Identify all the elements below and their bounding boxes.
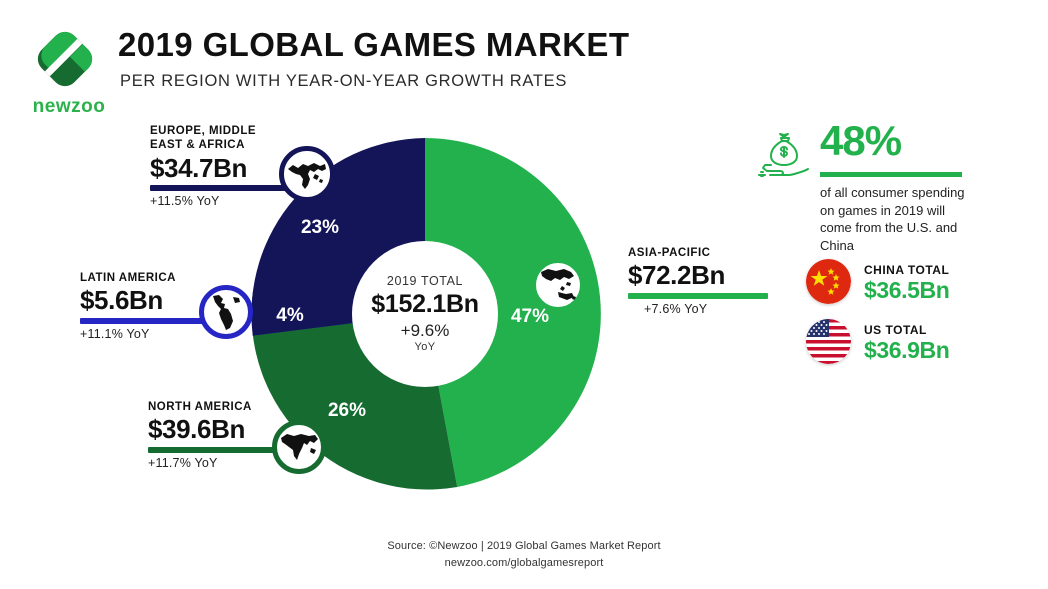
newzoo-logo-icon: [30, 24, 100, 94]
footer-url[interactable]: newzoo.com/globalgamesreport: [0, 557, 1048, 569]
stat-percent: 48%: [820, 120, 901, 162]
newzoo-wordmark: newzoo: [26, 96, 112, 118]
footer-source: Source: ©Newzoo | 2019 Global Games Mark…: [0, 540, 1048, 552]
donut-center-total: 2019 TOTAL $152.1Bn +9.6% YoY: [352, 241, 498, 387]
flag-value-china: $36.5Bn: [864, 277, 949, 304]
us-flag-icon: [806, 319, 851, 364]
stat-description: of all consumer spending on games in 201…: [820, 184, 970, 254]
callout-latin-america-region: LATIN AMERICA: [80, 271, 250, 285]
europe-middle-east-africa-map-icon: [279, 146, 335, 202]
header: newzoo 2019 GLOBAL GAMES MARKET PER REGI…: [18, 22, 658, 114]
donut-label-latin-america: 4%: [276, 305, 304, 326]
center-growth-unit: YoY: [415, 342, 436, 353]
china-flag-icon: [806, 259, 851, 304]
page-title: 2019 GLOBAL GAMES MARKET: [118, 26, 629, 64]
latin-america-map-icon: [199, 285, 253, 339]
right-panel: 48% of all consumer spending on games in…: [752, 126, 982, 386]
donut-label-emea: 23%: [301, 217, 339, 238]
center-growth-value: +9.6%: [401, 322, 450, 339]
center-total-label: 2019 TOTAL: [387, 275, 463, 288]
callout-north-america-rule: [148, 447, 280, 453]
north-america-map-icon: [272, 420, 326, 474]
infographic-canvas: newzoo 2019 GLOBAL GAMES MARKET PER REGI…: [0, 0, 1048, 589]
donut-label-asia-pacific: 47%: [511, 306, 549, 327]
page-subtitle: PER REGION WITH YEAR-ON-YEAR GROWTH RATE…: [120, 72, 567, 91]
flag-label-us: US TOTAL: [864, 323, 927, 337]
flag-row-us[interactable]: US TOTAL $36.9Bn: [806, 319, 986, 369]
footer: Source: ©Newzoo | 2019 Global Games Mark…: [0, 540, 1048, 569]
flag-label-china: CHINA TOTAL: [864, 263, 949, 277]
callout-asia-pacific-rule: [628, 293, 768, 299]
center-total-value: $152.1Bn: [371, 292, 478, 317]
stat-rule: [820, 172, 962, 177]
flag-value-us: $36.9Bn: [864, 337, 949, 364]
callout-latin-america-rule: [80, 318, 215, 324]
hand-holding-money-bag-icon: [756, 132, 812, 186]
asia-pacific-map-icon: [531, 258, 585, 312]
flag-row-china[interactable]: CHINA TOTAL $36.5Bn: [806, 259, 986, 309]
callout-north-america-region: NORTH AMERICA: [148, 400, 338, 414]
callout-emea-rule: [150, 185, 302, 191]
